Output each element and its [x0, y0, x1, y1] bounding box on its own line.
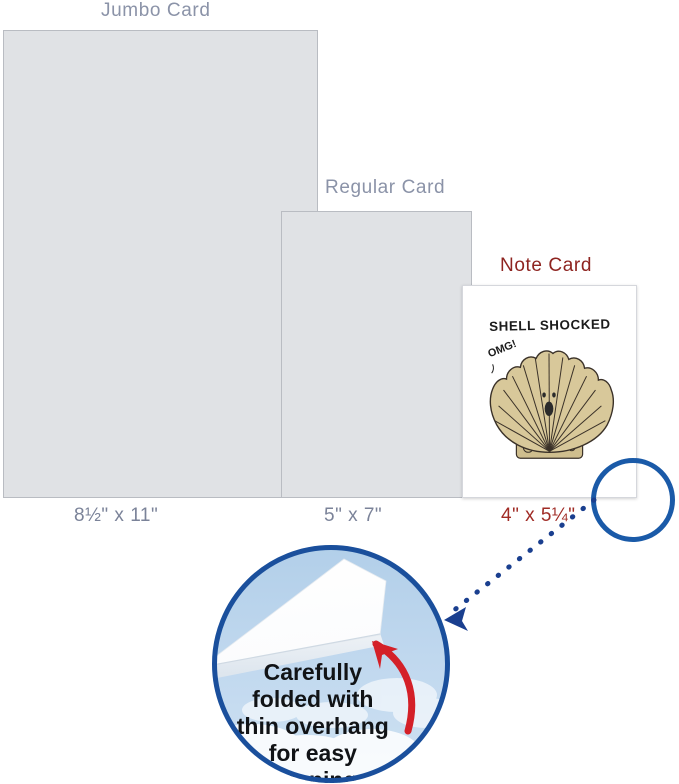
- corner-highlight-ring: [591, 458, 675, 542]
- card-label-jumbo: Jumbo Card: [101, 0, 211, 22]
- card-label-regular: Regular Card: [325, 177, 445, 199]
- shell-eye-left: [542, 392, 546, 397]
- shell-eye-right: [552, 392, 556, 397]
- connector-arrowhead: [444, 607, 468, 631]
- card-label-note: Note Card: [500, 255, 592, 277]
- illustration-canvas: Jumbo Card Regular Card Note Card SHELL …: [0, 0, 679, 784]
- card-rect-jumbo: [3, 30, 318, 498]
- dimension-label-jumbo: 8½" x 11": [74, 505, 158, 527]
- omg-tail-stroke: [492, 364, 494, 373]
- card-rect-regular: [281, 211, 472, 498]
- shell-mouth: [545, 402, 554, 416]
- omg-exclamation: OMG!: [486, 338, 518, 360]
- magnifier-inset: Carefully folded with thin overhang for …: [212, 545, 450, 783]
- dimension-label-note: 4" x 5¼": [501, 505, 576, 527]
- magnifier-content: Carefully folded with thin overhang for …: [212, 545, 450, 783]
- dimension-label-regular: 5" x 7": [324, 505, 382, 527]
- shell-shocked-headline: SHELL SHOCKED: [489, 316, 611, 334]
